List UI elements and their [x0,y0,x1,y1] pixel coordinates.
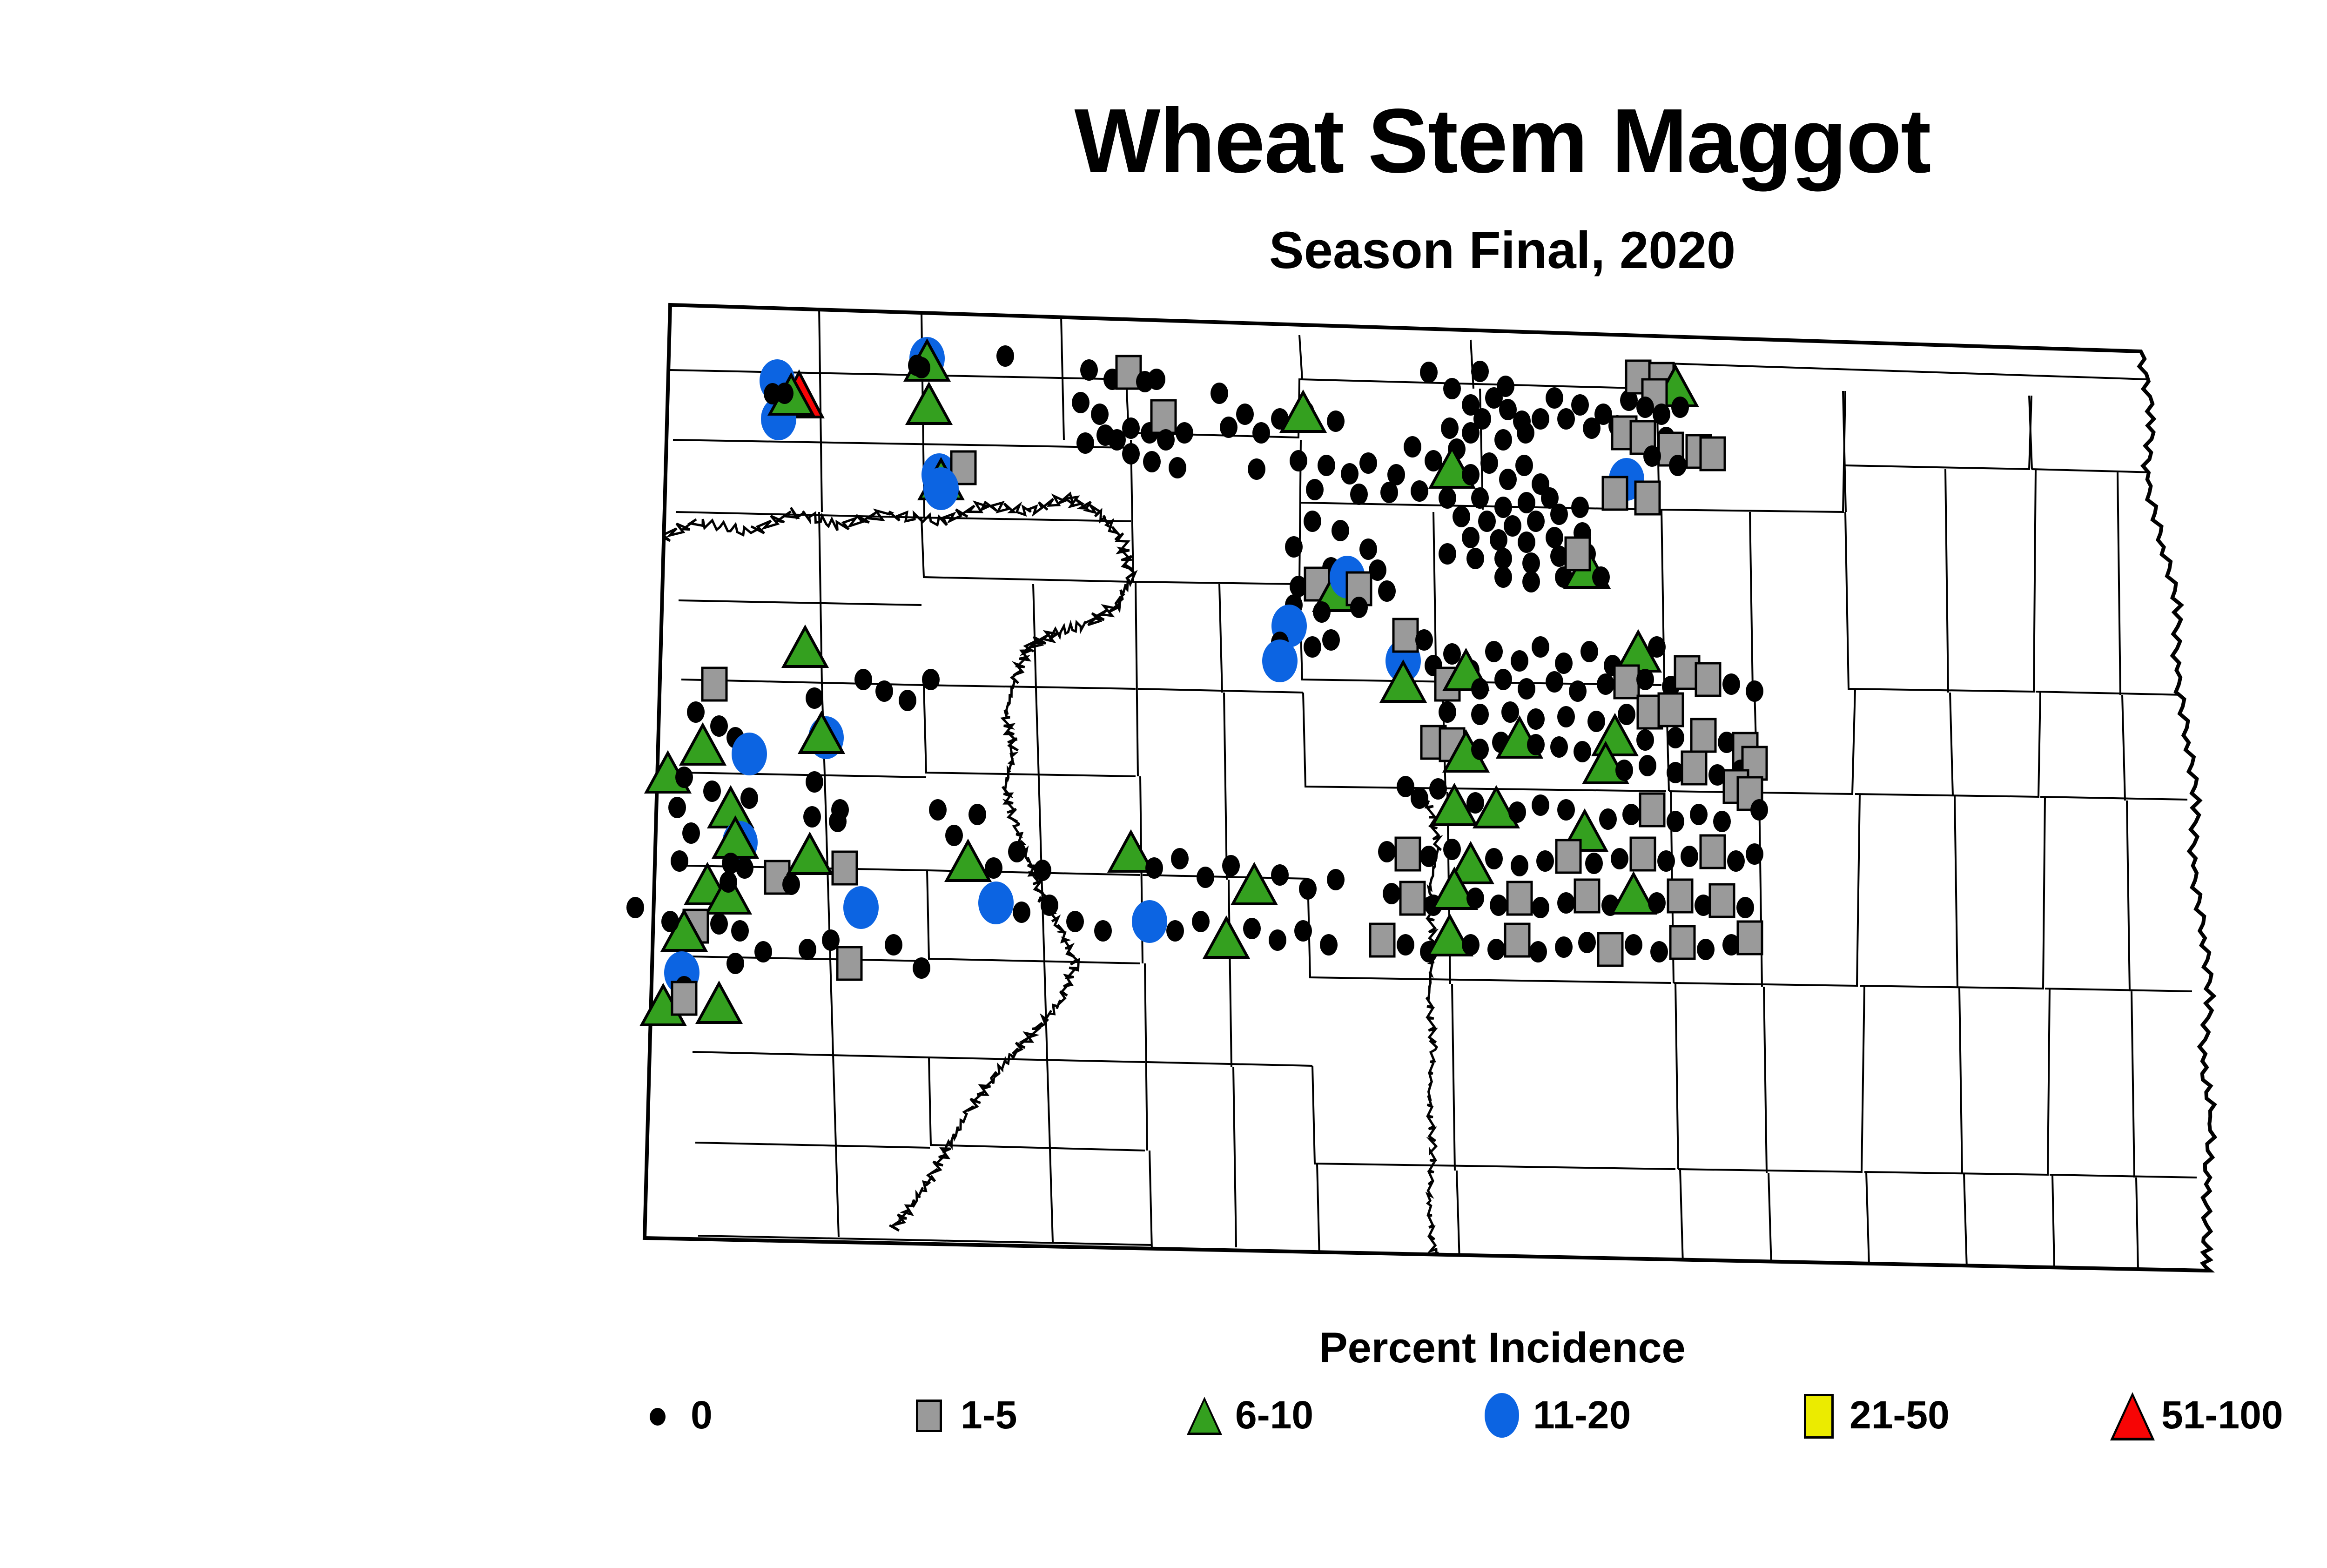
map-marker-0 [922,669,940,690]
map-marker-0 [1527,708,1545,730]
legend-yellow-square-icon [1804,1394,1834,1439]
map-marker-1-5 [1505,924,1529,956]
map-marker-0 [1478,511,1496,532]
map-marker-0 [720,871,737,893]
map-marker-0 [1532,897,1549,918]
map-marker-0 [1657,850,1675,872]
map-marker-0 [799,939,816,960]
map-marker-1-5 [1396,838,1420,870]
map-marker-0 [1550,736,1568,758]
map-marker-6-10 [784,627,827,666]
marker-layer [626,337,1768,1025]
map-marker-0 [1471,361,1489,382]
legend-item-label: 21-50 [1849,1395,1950,1434]
map-marker-0 [885,934,902,956]
map-marker-0 [1350,597,1368,618]
map-marker-0 [1494,566,1512,588]
map-marker-0 [1080,359,1098,381]
map-marker-0 [1462,464,1480,485]
map-marker-0 [764,383,781,404]
map-marker-0 [1318,455,1335,476]
map-marker-0 [1536,850,1554,872]
map-marker-0 [1359,538,1377,560]
map-marker-1-5 [1556,840,1580,873]
map-marker-1-5 [1614,666,1639,698]
map-marker-0 [1713,811,1731,832]
map-marker-0 [1557,892,1575,914]
legend-triangle-icon [1187,1397,1222,1435]
map-marker-0 [1667,727,1684,748]
map-marker-1-5 [1670,926,1695,959]
map-marker-0 [1320,934,1338,956]
map-marker-1-5 [1507,882,1532,915]
map-marker-1-5 [1659,693,1683,726]
map-marker-0 [1192,911,1210,932]
map-marker-0 [1197,867,1214,888]
page-subtitle: Season Final, 2020 [0,224,2327,276]
map-marker-0 [1252,422,1270,444]
map-marker-0 [1578,932,1596,953]
map-marker-0 [726,953,744,974]
legend: 01-56-1011-2021-5051-100 [596,1385,2327,1445]
map-marker-1-5 [1603,477,1627,510]
map-marker-0 [1041,895,1058,916]
map-marker-0 [1378,841,1396,862]
map-marker-0 [1322,629,1340,651]
map-marker-0 [1420,846,1438,867]
map-marker-1-5 [1682,752,1706,784]
map-page: Wheat Stem Maggot Season Final, 2020 Per… [0,0,2327,1568]
map-marker-0 [1518,678,1535,700]
map-marker-0 [1517,422,1534,444]
map-marker-0 [703,781,721,802]
map-marker-0 [1546,671,1563,693]
map-marker-0 [1350,484,1368,505]
map-marker-1-5 [1400,882,1425,915]
map-marker-0 [1532,408,1549,430]
map-marker-0 [1515,455,1533,476]
legend-title: Percent Incidence [0,1326,2327,1369]
map-marker-0 [1557,706,1575,727]
map-marker-0 [1248,458,1265,480]
map-marker-0 [1750,799,1768,821]
map-marker-0 [1527,511,1545,532]
map-marker-0 [1532,794,1549,816]
map-marker-0 [1669,455,1687,476]
map-marker-0 [1439,701,1456,723]
map-marker-6-10 [788,834,831,874]
map-marker-0 [1034,860,1051,881]
map-marker-1-5 [1696,663,1720,696]
map-marker-0 [1504,515,1521,537]
map-marker-11-20 [923,467,959,510]
map-marker-0 [1487,939,1505,960]
map-marker-0 [1690,804,1708,825]
map-marker-0 [1522,571,1540,592]
map-marker-0 [1439,487,1456,509]
map-marker-0 [1443,643,1461,665]
map-marker-0 [1648,636,1666,658]
map-marker-0 [1722,673,1740,695]
map-marker-0 [1443,839,1461,860]
map-marker-0 [1236,404,1254,425]
map-marker-0 [1499,469,1517,490]
map-marker-1-5 [1701,835,1725,868]
map-marker-0 [1327,411,1345,432]
page-title: Wheat Stem Maggot [0,95,2327,187]
map-marker-0 [736,857,753,879]
map-marker-0 [1557,799,1575,821]
legend-item-51-100[interactable]: 51-100 [2104,1385,2283,1445]
map-marker-11-20 [1262,639,1298,682]
legend-item-label: 51-100 [2161,1395,2283,1434]
map-marker-0 [1013,902,1030,923]
map-marker-6-10 [947,841,989,881]
map-marker-0 [1157,429,1175,451]
map-marker-0 [1736,897,1754,918]
map-marker-0 [1501,701,1519,723]
map-marker-0 [1439,543,1456,565]
map-marker-0 [710,913,728,935]
legend-item-1-5[interactable]: 1-5 [903,1385,1017,1445]
map-marker-6-10 [1233,865,1276,904]
map-marker-0 [985,857,1002,879]
map-marker-1-5 [1631,838,1655,870]
map-marker-0 [1108,429,1126,451]
map-marker-0 [899,690,916,711]
map-marker-0 [1571,394,1589,416]
map-marker-0 [1462,934,1480,956]
map-marker-0 [913,357,930,378]
map-marker-1-5 [837,947,861,980]
map-marker-0 [1643,445,1661,467]
map-marker-0 [740,787,758,809]
map-marker-0 [803,806,821,828]
map-marker-0 [1443,378,1461,399]
map-marker-1-5 [1370,924,1394,956]
map-marker-0 [1592,566,1610,588]
map-marker-0 [668,797,686,818]
map-marker-0 [1727,850,1745,872]
map-marker-1-5 [1575,880,1599,912]
map-marker-0 [996,345,1014,367]
map-marker-0 [1091,404,1109,425]
map-marker-0 [1471,704,1489,725]
map-marker-0 [1615,760,1633,781]
map-marker-0 [1243,918,1261,939]
map-marker-0 [1550,504,1568,525]
map-marker-0 [1441,417,1459,439]
map-marker-6-10 [698,983,740,1023]
map-marker-0 [1341,463,1359,485]
map-marker-0 [1145,857,1163,879]
map-marker-0 [687,701,705,723]
map-marker-0 [1211,383,1228,404]
map-marker-0 [1220,417,1237,438]
map-marker-0 [1148,369,1165,390]
legend-item-21-50[interactable]: 21-50 [1792,1385,1950,1445]
map-marker-0 [1681,846,1698,867]
map-marker-1-5 [1640,794,1664,826]
map-marker-0 [1618,704,1635,725]
map-marker-0 [731,920,749,942]
map-marker-0 [1636,397,1654,418]
map-marker-0 [1359,452,1377,474]
map-marker-0 [854,669,872,690]
legend-item-label: 6-10 [1235,1395,1313,1434]
map-marker-0 [806,771,823,793]
map-marker-0 [929,799,947,821]
map-marker-11-20 [732,733,767,775]
map-marker-0 [1697,939,1715,960]
map-marker-0 [1494,429,1512,451]
map-marker-1-5 [1151,400,1176,433]
map-marker-0 [1313,601,1331,623]
map-marker-0 [1518,532,1535,553]
map-marker-0 [682,822,700,844]
map-marker-0 [1625,934,1642,956]
map-marker-0 [1522,552,1540,574]
map-marker-0 [1508,801,1526,823]
map-marker-0 [1076,432,1094,454]
map-marker-0 [1746,843,1763,865]
map-marker-0 [1557,408,1575,430]
map-marker-11-20 [1132,900,1167,943]
legend-square-icon [916,1400,942,1432]
map-marker-0 [1420,362,1438,383]
legend-item-label: 0 [691,1395,713,1434]
map-marker-1-5 [1598,933,1622,966]
map-marker-0 [1511,855,1528,876]
map-marker-0 [1411,480,1428,502]
map-marker-1-5 [1691,719,1715,752]
map-marker-0 [1636,729,1654,751]
map-marker-0 [1466,548,1484,569]
map-marker-1-5 [1668,880,1692,912]
map-marker-0 [1166,920,1184,942]
map-marker-0 [1222,855,1240,876]
map-marker-0 [1569,680,1587,702]
map-marker-1-5 [672,982,696,1015]
map-marker-0 [1580,641,1598,662]
map-marker-0 [875,680,893,702]
map-marker-0 [710,715,728,737]
map-marker-0 [1571,497,1589,518]
map-marker-0 [1462,422,1480,444]
map-marker-0 [1122,443,1140,464]
map-marker-0 [1466,792,1484,814]
map-marker-0 [1380,482,1398,503]
map-marker-0 [1304,511,1321,532]
map-marker-0 [1378,580,1396,602]
map-marker-1-5 [833,852,857,884]
map-marker-0 [1066,911,1084,932]
map-marker-0 [1332,520,1349,541]
map-marker-0 [782,874,800,895]
legend-item-6-10[interactable]: 6-10 [1177,1385,1313,1445]
map-marker-0 [1529,941,1547,962]
map-marker-0 [1667,811,1684,832]
map-marker-0 [1471,739,1489,760]
map-marker-0 [806,687,823,709]
map-marker-0 [1453,506,1470,527]
map-marker-0 [1485,641,1503,662]
map-marker-0 [1404,436,1421,458]
map-marker-0 [1639,755,1656,776]
legend-item-0[interactable]: 0 [633,1385,713,1445]
map-marker-0 [1490,529,1507,551]
map-marker-0 [1072,392,1090,413]
map-marker-0 [1411,787,1428,809]
map-marker-0 [1527,734,1545,755]
map-marker-0 [1397,934,1414,956]
map-marker-0 [1285,536,1303,558]
map-marker-0 [1471,487,1489,509]
map-marker-0 [1415,629,1433,651]
map-marker-0 [945,825,963,846]
map-marker-6-10 [1205,918,1248,957]
map-marker-0 [1511,650,1528,672]
map-marker-6-10 [908,384,950,424]
map-marker-0 [1471,678,1489,700]
map-marker-0 [1587,711,1605,732]
map-marker-0 [671,850,688,872]
map-marker-0 [1176,422,1193,444]
map-marker-0 [661,911,679,932]
map-marker-0 [1611,848,1628,869]
map-marker-1-5 [702,668,726,700]
map-marker-1-5 [1738,922,1762,954]
map-marker-1-5 [1701,437,1725,470]
map-marker-0 [1466,888,1484,909]
map-marker-0 [1648,892,1666,914]
legend-item-label: 1-5 [961,1395,1017,1434]
legend-item-11-20[interactable]: 11-20 [1475,1385,1631,1445]
map-marker-0 [1555,653,1573,674]
map-marker-6-10 [1282,392,1325,431]
map-marker-0 [1171,848,1189,869]
map-marker-0 [1383,883,1400,904]
map-marker-6-10 [1612,874,1655,913]
legend-item-label: 11-20 [1533,1395,1631,1434]
map-marker-0 [913,957,930,979]
legend-red-triangle-icon [2110,1392,2155,1440]
map-marker-0 [1494,669,1512,690]
north-dakota-map [596,279,2271,1294]
map-marker-0 [1636,669,1654,690]
map-marker-0 [1518,492,1535,513]
map-marker-1-5 [1710,884,1734,917]
map-marker-0 [1555,936,1573,958]
map-marker-0 [1094,920,1112,942]
map-marker-0 [1299,878,1317,900]
map-marker-0 [675,767,693,788]
map-marker-0 [1294,920,1312,942]
map-marker-0 [1290,450,1307,471]
map-marker-0 [1327,869,1345,890]
map-marker-0 [1599,808,1617,830]
map-marker-0 [626,897,644,918]
map-marker-0 [1574,741,1591,762]
map-marker-0 [1306,479,1324,500]
map-marker-0 [1462,527,1480,548]
map-marker-11-20 [978,882,1014,924]
map-marker-0 [1304,636,1321,658]
map-marker-0 [1532,636,1549,658]
map-marker-11-20 [843,886,879,929]
map-marker-0 [1169,457,1186,478]
map-marker-0 [1429,778,1447,800]
map-marker-1-5 [1566,538,1590,570]
map-marker-0 [1546,387,1563,409]
map-marker-0 [1546,527,1563,548]
map-marker-0 [1494,497,1512,518]
map-svg [596,279,2271,1294]
map-marker-0 [1597,673,1614,695]
map-marker-0 [829,811,847,832]
map-marker-0 [1143,451,1161,472]
map-marker-0 [1271,864,1289,886]
map-marker-0 [1485,848,1503,869]
map-marker-0 [1008,841,1026,862]
map-marker-1-5 [1635,482,1660,514]
map-marker-0 [968,804,986,825]
map-marker-0 [1480,452,1498,474]
map-marker-0 [1746,680,1763,702]
map-marker-0 [1622,804,1640,825]
map-marker-0 [1585,853,1603,874]
map-marker-0 [754,941,772,962]
map-marker-0 [1650,941,1668,962]
map-marker-0 [1671,397,1689,418]
map-marker-0 [1269,929,1286,951]
map-marker-0 [1494,548,1512,569]
map-marker-1-5 [1393,619,1418,652]
map-marker-0 [1490,895,1507,916]
legend-dot-icon [650,1408,666,1426]
legend-circle-icon [1485,1393,1519,1438]
